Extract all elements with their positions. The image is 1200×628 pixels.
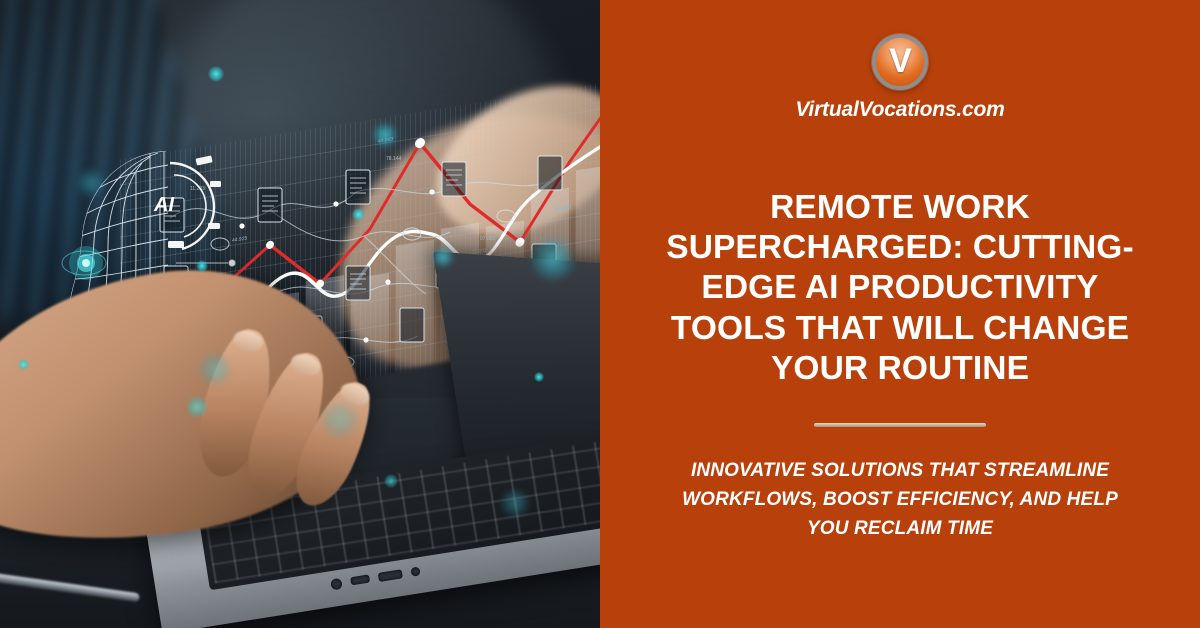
brand-name: VirtualVocations.com [795, 98, 1004, 122]
subtitle: INNOVATIVE SOLUTIONS THAT STREAMLINE WOR… [665, 457, 1135, 544]
network-value-label: 97.002 [480, 236, 496, 242]
divider [814, 423, 986, 427]
page-title: REMOTE WORK SUPERCHARGED: CUTTING-EDGE A… [644, 188, 1156, 389]
hero-photo: 47.159 44.925 44.603 11.201 41.213 11.29… [0, 0, 600, 628]
social-share-banner: 47.159 44.925 44.603 11.201 41.213 11.29… [0, 0, 1200, 628]
logo-letter: V [889, 44, 911, 78]
logo-circle-icon: V [872, 34, 928, 90]
head-eye-glow [62, 246, 106, 280]
brand-logo[interactable]: V VirtualVocations.com [795, 34, 1004, 122]
network-value-label: 78.144 [386, 156, 402, 162]
text-panel: V VirtualVocations.com REMOTE WORK SUPER… [600, 0, 1200, 628]
ai-hud-ring [170, 163, 214, 249]
ai-label: AI [153, 194, 174, 216]
